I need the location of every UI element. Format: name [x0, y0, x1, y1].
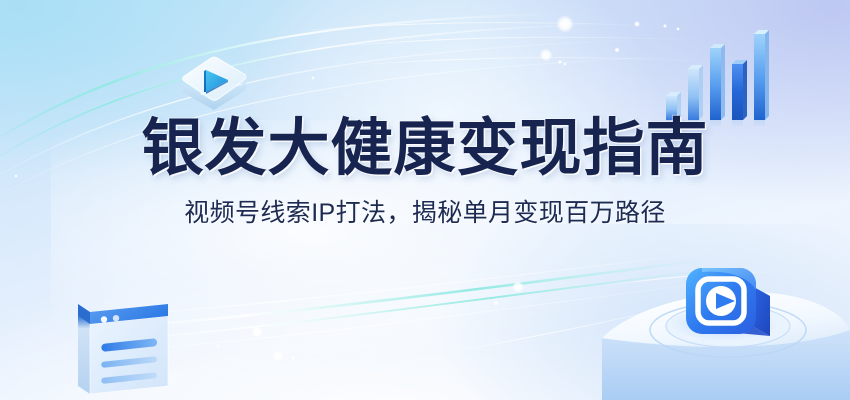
bar [732, 60, 747, 126]
pedestal-video-group [600, 268, 850, 400]
play-card-3d [176, 44, 252, 116]
page-title: 银发大健康变现指南 [0, 118, 850, 180]
bar-chart-3d [664, 22, 774, 126]
bar [754, 30, 769, 126]
promo-banner: 银发大健康变现指南 视频号线索IP打法，揭秘单月变现百万路径 [0, 0, 850, 400]
video-play-icon-3d [686, 268, 770, 336]
banner-text: 银发大健康变现指南 视频号线索IP打法，揭秘单月变现百万路径 [0, 118, 850, 226]
window-dot [101, 316, 107, 322]
window-dot [113, 315, 119, 321]
page-subtitle: 视频号线索IP打法，揭秘单月变现百万路径 [0, 201, 850, 226]
bar [710, 44, 725, 126]
document-card-3d [72, 292, 176, 400]
